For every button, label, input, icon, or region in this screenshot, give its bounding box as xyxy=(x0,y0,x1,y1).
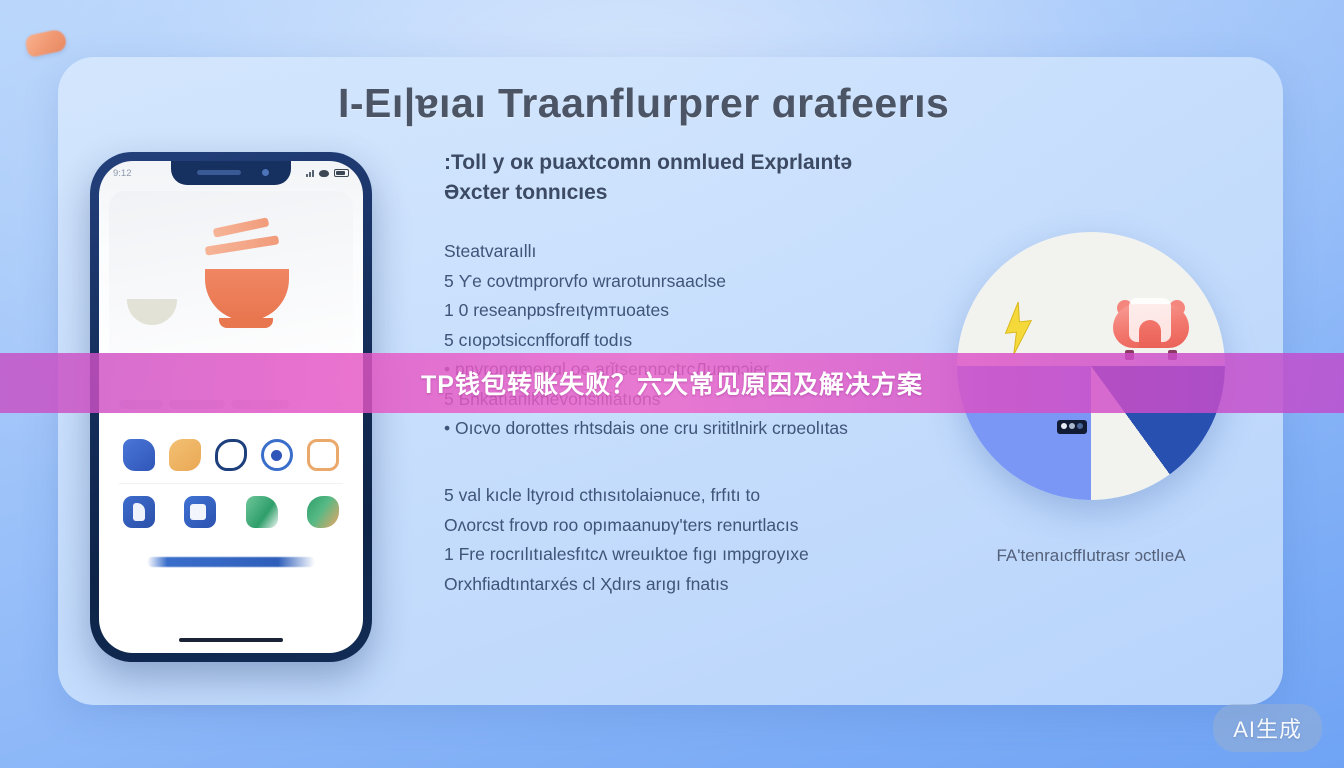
poster-body-list-b: 5 val kıcle ltyroıd cthısıtolaіənuce, fr… xyxy=(444,481,1004,599)
list-item: 5 ϒе covtmprorvfo ԝrarotunrsaaclse xyxy=(444,267,1004,297)
phone-notch xyxy=(171,161,291,185)
list-item: 1 Fre rocrılıtıalesfıtcʌ wreuıktoe fıgı … xyxy=(444,540,1004,570)
small-bowl-icon xyxy=(127,299,177,325)
app-icon-green-orange[interactable] xyxy=(307,496,339,528)
list-item: 5 val kıcle ltyroıd cthısıtolaіənuce, fr… xyxy=(444,481,1004,511)
app-icon-blue-square[interactable] xyxy=(184,496,216,528)
app-icon-blue-circle[interactable] xyxy=(261,439,293,471)
app-icon-blue-leaf[interactable] xyxy=(123,439,155,471)
orange-blob-decoration xyxy=(24,28,68,58)
app-icon-row-1 xyxy=(119,427,343,483)
list-item: Oʌorcst frovɒ roo opımaanuɒγ'terѕ renurt… xyxy=(444,511,1004,541)
signal-bars-icon xyxy=(306,169,314,177)
status-time: 9:12 xyxy=(113,168,132,179)
wifi-icon xyxy=(319,170,329,177)
banner-title: TP钱包转账失败？六大常见原因及解决方案 xyxy=(421,365,923,401)
home-indicator xyxy=(179,638,283,642)
earpiece-speaker-icon xyxy=(197,170,241,175)
chopstick-icon xyxy=(213,217,270,237)
overlay-banner: TP钱包转账失败？六大常见原因及解决方案 xyxy=(0,353,1344,413)
poster-canvas: I-Eı|ɐıaı Traanflurprer ɑrafeerıs :Toll … xyxy=(0,0,1344,768)
app-icon-green-leaf[interactable] xyxy=(246,496,278,528)
app-icon-amber-arrow[interactable] xyxy=(169,439,201,471)
subhead-line-1: :Toll y oк puaxtcomn onmlued Exprlaıntə xyxy=(444,148,1004,178)
ai-generated-badge: AI生成 xyxy=(1213,704,1322,752)
list-item: 5 cıopɔtsіccnfforɑff todıs xyxy=(444,326,1004,356)
app-icon-navy-ring[interactable] xyxy=(215,439,247,471)
status-right-icons xyxy=(306,169,349,177)
list-item: 1 0 reseanpɒsfreıtγmтuoates xyxy=(444,296,1004,326)
primary-action-bar[interactable] xyxy=(147,557,315,567)
front-camera-icon xyxy=(262,169,269,176)
app-icon-orange-square[interactable] xyxy=(307,439,339,471)
list-item: Orxhfiadtıntaгxés cl Ҳdırs arıgı fnatıs xyxy=(444,570,1004,600)
subhead-line-2: Əxcter tonnıcıes xyxy=(444,178,1004,208)
list-item: • Oıcvo dorottes rhtsdais one cru srіtіt… xyxy=(444,414,1004,444)
app-icon-grid xyxy=(119,427,343,540)
app-icon-row-2 xyxy=(119,483,343,540)
app-icon-blue-doc[interactable] xyxy=(123,496,155,528)
battery-icon xyxy=(334,169,349,177)
chopstick-icon xyxy=(205,235,279,255)
pie-chart-caption: FAʹtеnrаıcffIutrasr ɔctlıeA xyxy=(957,546,1225,566)
poster-subhead: :Toll y oк puaxtcomn onmlued Exprlaıntə … xyxy=(444,148,1004,208)
noodle-bowl-icon xyxy=(205,269,289,321)
page-title: I-Eı|ɐıaı Traanflurprer ɑrafeerıs xyxy=(338,80,1058,127)
list-item: Steatvaraıllı xyxy=(444,237,1004,267)
